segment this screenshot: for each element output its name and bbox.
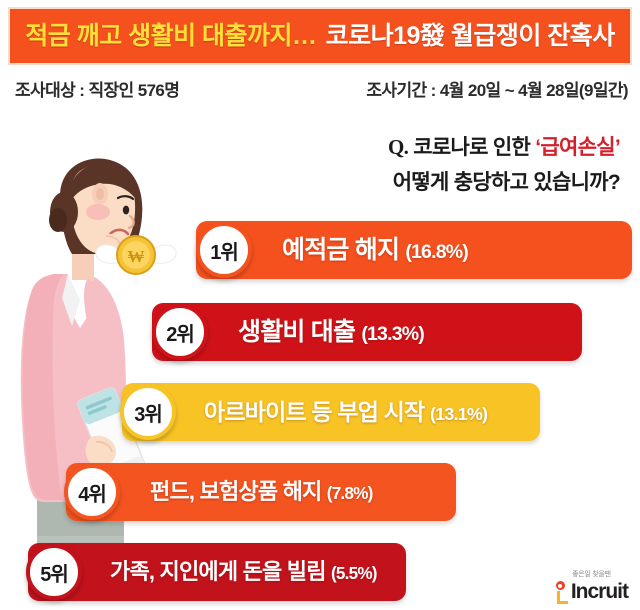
headline-part2: 코로나19發 월급쟁이 잔혹사 xyxy=(326,22,615,50)
rank-bar-1[interactable]: 예적금 해지 (16.8%) xyxy=(196,221,632,279)
rank-bar-4-percent: (7.8%) xyxy=(327,483,373,503)
logo-wordmark-row: Incruit xyxy=(555,580,628,602)
rank-badge-2: 2위 xyxy=(152,304,208,360)
incruit-mark-icon xyxy=(555,580,570,602)
question-block: Q. 코로나로 인한 ‘급여손실’ 어떻게 충당하고 있습니까? xyxy=(388,134,620,197)
rank-bar-4[interactable]: 펀드, 보험상품 해지 (7.8%) xyxy=(66,463,456,521)
rank-bar-1-percent: (16.8%) xyxy=(405,241,468,263)
rank-bar-5[interactable]: 가족, 지인에게 돈을 빌림 (5.5%) xyxy=(28,543,406,601)
question-marker: Q. xyxy=(388,135,408,159)
rank-bar-2-text: 생활비 대출 xyxy=(238,318,355,346)
rank-badge-4: 4위 xyxy=(64,464,120,520)
headline-part1: 적금 깨고 생활비 대출까지… xyxy=(25,22,316,50)
incruit-logo[interactable]: 좋은일 찾을땐 Incruit xyxy=(555,569,628,602)
worried-worker-illustration: ₩ xyxy=(2,150,212,600)
rank-bar-1-label: 예적금 해지 (16.8%) xyxy=(282,238,468,263)
rank-badge-3: 3위 xyxy=(120,384,176,440)
rank-bar-5-label: 가족, 지인에게 돈을 빌림 (5.5%) xyxy=(110,561,377,583)
question-highlight: ‘급여손실’ xyxy=(535,136,620,159)
rank-bar-3-text: 아르바이트 등 부업 시작 xyxy=(204,399,424,425)
rank-bar-2-percent: (13.3%) xyxy=(361,323,424,345)
question-line-2: 어떻게 충당하고 있습니까? xyxy=(388,170,620,196)
rank-bar-3-percent: (13.1%) xyxy=(430,404,487,424)
question-text-lead: 코로나로 인한 xyxy=(408,136,535,159)
question-line-1: Q. 코로나로 인한 ‘급여손실’ xyxy=(388,134,620,161)
rank-bar-4-text: 펀드, 보험상품 해지 xyxy=(150,479,321,504)
headline-banner: 적금 깨고 생활비 대출까지…코로나19發 월급쟁이 잔혹사 xyxy=(8,7,632,65)
rank-badge-5: 5위 xyxy=(26,544,82,600)
logo-wordmark: Incruit xyxy=(571,581,628,602)
rank-bar-3[interactable]: 아르바이트 등 부업 시작 (13.1%) xyxy=(122,383,540,441)
infographic-root: 적금 깨고 생활비 대출까지…코로나19發 월급쟁이 잔혹사 조사대상 : 직장… xyxy=(0,0,640,610)
headline-text: 적금 깨고 생활비 대출까지…코로나19發 월급쟁이 잔혹사 xyxy=(25,24,615,49)
survey-period: 조사기간 : 4월 20일 ~ 4월 28일(9일간) xyxy=(366,76,628,101)
svg-text:₩: ₩ xyxy=(128,247,145,266)
rank-bar-1-text: 예적금 해지 xyxy=(282,236,399,264)
logo-tagline: 좋은일 찾을땐 xyxy=(555,569,628,579)
rank-bar-5-text: 가족, 지인에게 돈을 빌림 xyxy=(110,559,326,584)
rank-bar-5-percent: (5.5%) xyxy=(331,563,377,583)
rank-bar-4-label: 펀드, 보험상품 해지 (7.8%) xyxy=(150,481,373,503)
survey-respondents: 조사대상 : 직장인 576명 xyxy=(15,76,179,101)
rank-bar-2[interactable]: 생활비 대출 (13.3%) xyxy=(152,303,582,361)
rank-badge-1: 1위 xyxy=(196,222,252,278)
rank-bar-3-label: 아르바이트 등 부업 시작 (13.1%) xyxy=(204,401,487,424)
rank-bar-2-label: 생활비 대출 (13.3%) xyxy=(238,320,424,345)
survey-meta: 조사대상 : 직장인 576명 조사기간 : 4월 20일 ~ 4월 28일(9… xyxy=(0,76,640,102)
